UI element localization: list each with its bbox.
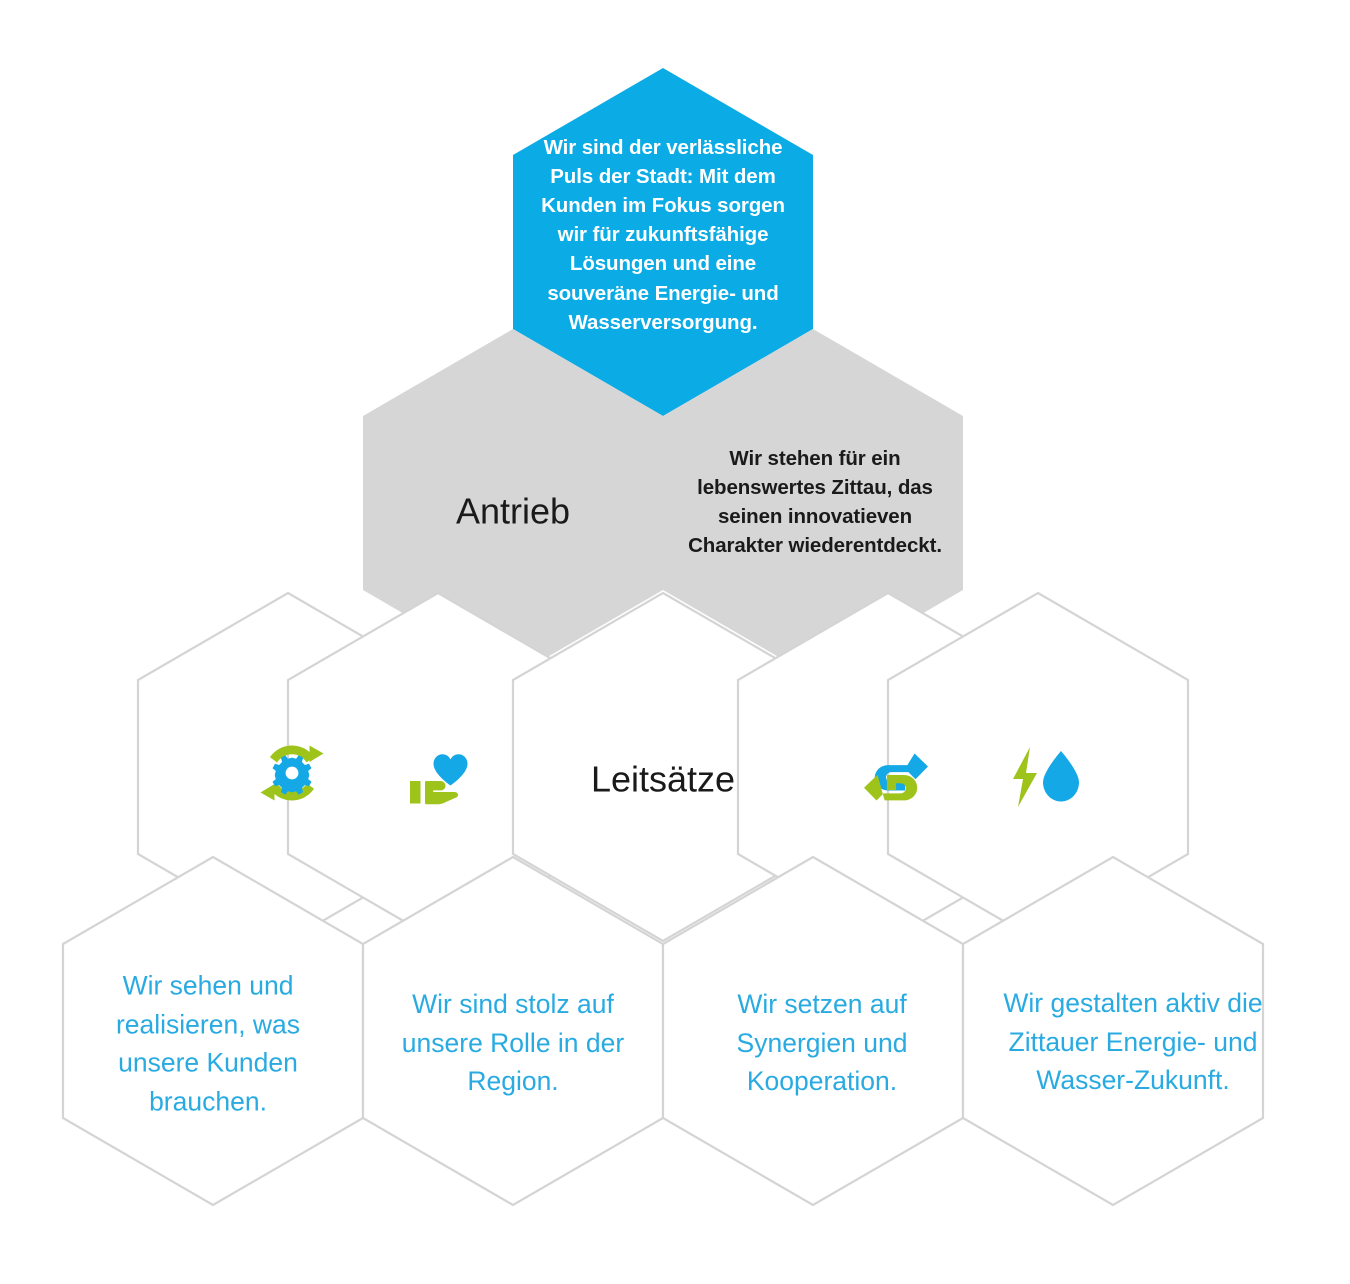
hand-heart-icon <box>405 741 481 813</box>
hexagon-diagram: Wir sind der verlässliche Puls der Stadt… <box>0 0 1350 1284</box>
handshake-icon <box>858 741 934 813</box>
recycle-gear-icon <box>255 737 329 809</box>
energy-water-icon <box>1004 741 1084 813</box>
hexagon-grid <box>0 0 1350 1284</box>
